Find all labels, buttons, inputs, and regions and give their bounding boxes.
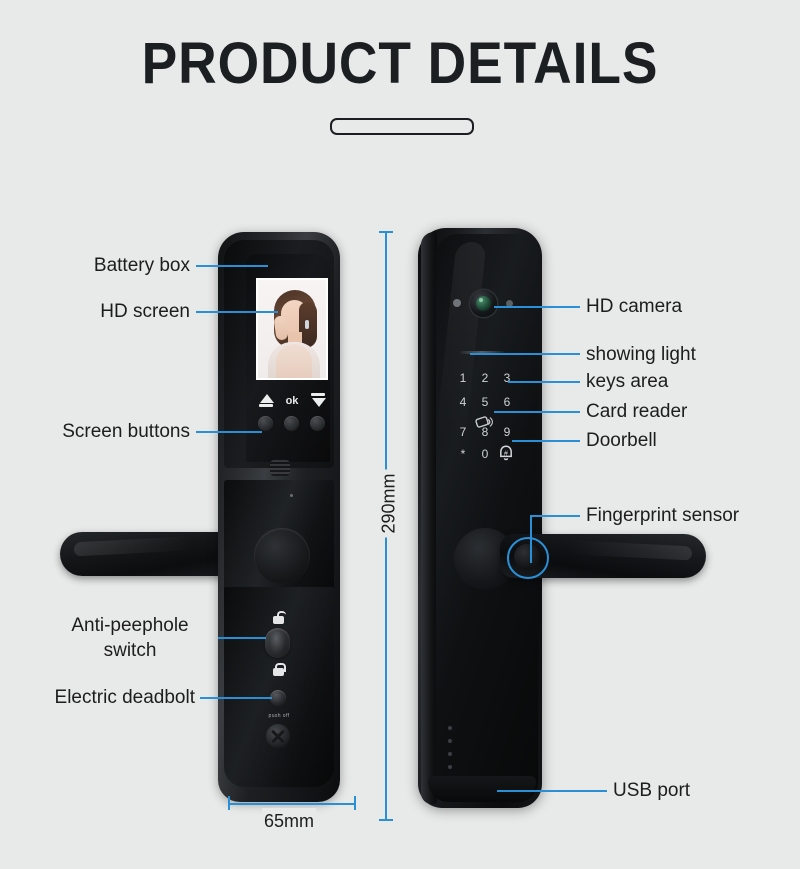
hd-camera-icon — [470, 290, 497, 317]
label-keys-area: keys area — [586, 369, 668, 394]
outdoor-side-edge — [421, 232, 437, 804]
leader-battery-box — [196, 265, 268, 267]
svg-text:#: # — [504, 450, 508, 457]
key-5[interactable]: 5 — [474, 394, 496, 410]
triangle-up-icon — [256, 392, 276, 410]
label-anti-peephole: Anti-peephole switch — [45, 613, 215, 663]
key-6[interactable]: 6 — [496, 394, 518, 410]
label-showing-light: showing light — [586, 342, 696, 367]
outdoor-lock-foot — [428, 776, 536, 802]
key-9[interactable]: 9 — [496, 424, 518, 440]
fingerprint-highlight-ring — [507, 537, 549, 579]
key-0[interactable]: 0 — [474, 446, 496, 462]
width-dimension-line — [228, 803, 356, 805]
screen-button-up[interactable] — [258, 416, 273, 431]
label-hd-camera: HD camera — [586, 294, 682, 319]
leader-anti-peephole — [218, 637, 266, 639]
leader-hd-screen — [196, 311, 278, 313]
usb-port-vents — [448, 726, 454, 770]
anti-peephole-switch[interactable] — [265, 628, 290, 658]
deadbolt-micro-label: push off — [250, 713, 308, 719]
doorbell-bell-icon[interactable]: # — [496, 444, 516, 464]
screen-button-down[interactable] — [310, 416, 325, 431]
keypad-area[interactable]: 1 2 3 4 5 6 7 8 9 * 0 # — [452, 370, 518, 462]
label-usb-port: USB port — [613, 778, 690, 803]
indicator-pin-dot — [290, 494, 293, 497]
height-dimension-label: 290mm — [376, 470, 403, 538]
screen-photo-earring — [305, 320, 309, 329]
light-sensor-left-icon — [453, 299, 461, 307]
title-divider — [330, 118, 474, 135]
padlock-closed-icon — [272, 662, 285, 676]
leader-card-reader — [494, 411, 580, 413]
speaker-grille-icon — [270, 460, 290, 476]
label-screen-buttons: Screen buttons — [10, 419, 190, 444]
key-4[interactable]: 4 — [452, 394, 474, 410]
label-fingerprint-sensor: Fingerprint sensor — [586, 503, 739, 528]
page-title: PRODUCT DETAILS — [32, 32, 768, 96]
leader-hd-camera — [494, 306, 580, 308]
width-dimension-cap-right — [354, 796, 356, 810]
leader-usb-port — [497, 790, 607, 792]
key-3[interactable]: 3 — [496, 370, 518, 386]
screen-button-ok[interactable] — [284, 416, 299, 431]
key-star[interactable]: * — [452, 446, 474, 462]
label-hd-screen: HD screen — [20, 299, 190, 324]
triangle-down-icon — [308, 392, 328, 410]
width-dimension-label: 65mm — [262, 808, 316, 835]
label-doorbell: Doorbell — [586, 428, 657, 453]
key-7[interactable]: 7 — [452, 424, 474, 440]
leader-showing-light — [470, 353, 580, 355]
leader-screen-buttons — [196, 431, 262, 433]
cross-screw-icon — [266, 724, 290, 748]
leader-doorbell — [512, 440, 580, 442]
screen-button-row: ok — [256, 392, 328, 444]
hd-screen-display — [256, 278, 328, 380]
key-8[interactable]: 8 — [474, 424, 496, 440]
padlock-open-icon — [272, 610, 285, 624]
label-electric-deadbolt: Electric deadbolt — [10, 685, 195, 710]
product-details-diagram: PRODUCT DETAILS ok — [0, 0, 800, 869]
screen-photo-shoulder — [276, 344, 312, 378]
leader-keys-area — [508, 381, 580, 383]
leader-fingerprint-v — [530, 515, 532, 563]
thumb-turn-knob[interactable] — [254, 528, 310, 584]
label-card-reader: Card reader — [586, 399, 687, 424]
ok-button-label: ok — [282, 392, 302, 410]
width-dimension-cap-left — [228, 796, 230, 810]
key-1[interactable]: 1 — [452, 370, 474, 386]
indoor-lock-panel: ok push off — [218, 232, 340, 802]
height-dimension-cap-top — [379, 231, 393, 233]
leader-electric-deadbolt — [200, 697, 272, 699]
label-battery-box: Battery box — [20, 253, 190, 278]
height-dimension-cap-bottom — [379, 819, 393, 821]
outdoor-lock-panel: 1 2 3 4 5 6 7 8 9 * 0 # — [418, 228, 542, 808]
key-2[interactable]: 2 — [474, 370, 496, 386]
electric-deadbolt-button[interactable] — [270, 690, 286, 706]
leader-fingerprint-h — [530, 515, 580, 517]
